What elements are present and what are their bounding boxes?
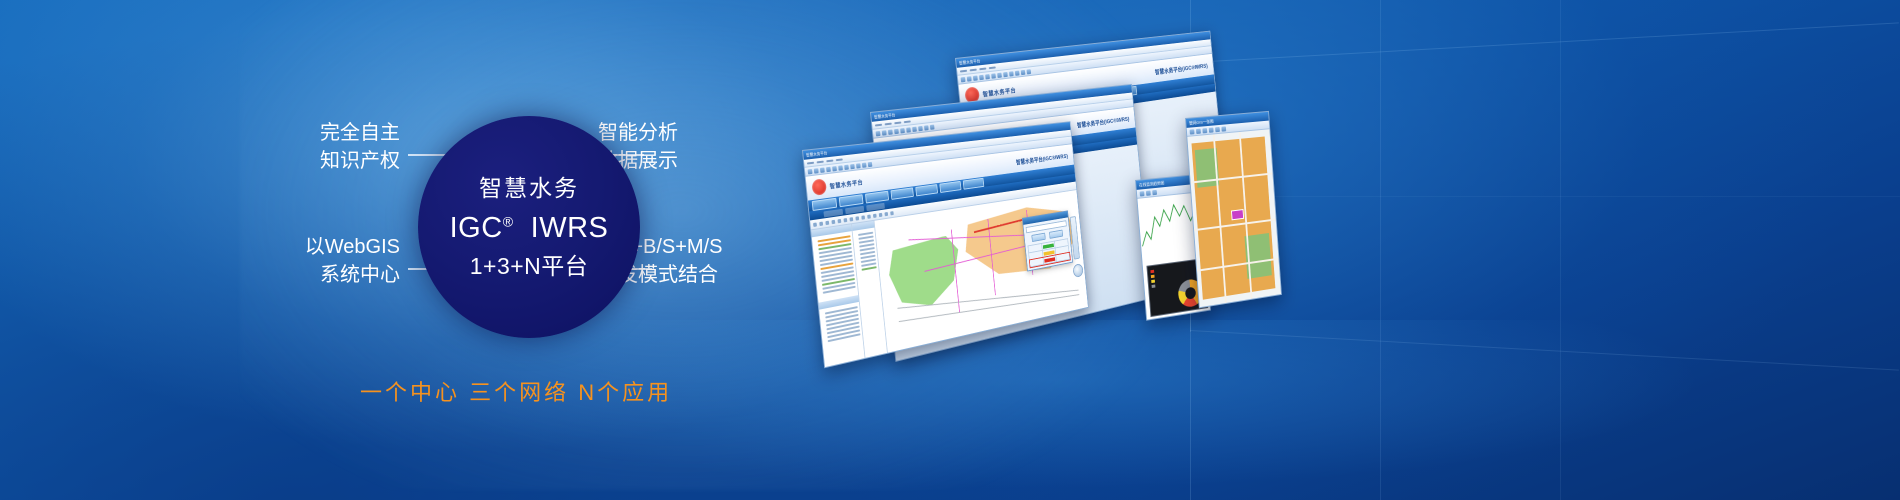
registered-icon: ® [503, 213, 514, 229]
center-badge-igc: IGC [450, 212, 503, 244]
feature-bottom-left-line2: 系统中心 [242, 262, 400, 290]
screenshot-stack: 智慧水务平台 智慧水务平台 智慧水务平台(IGC®IWRS) 智慧水务平台 智慧… [780, 40, 1380, 370]
layer-tree[interactable] [812, 231, 858, 299]
center-badge-line1: 智慧水务 [479, 177, 579, 200]
query-button[interactable] [1031, 233, 1045, 242]
app-logo-text: 智慧水务平台 [829, 177, 863, 190]
center-badge-iwrs: IWRS [531, 212, 609, 244]
center-badge-line2: IGC® IWRS [450, 214, 609, 243]
map-pan-control[interactable] [1073, 263, 1084, 278]
gauge-legend [1150, 270, 1155, 290]
center-badge-line3: 1+3+N平台 [470, 255, 589, 278]
feature-top-right-line1: 智能分析 [598, 122, 678, 144]
feature-top-left-line1: 完全自主 [320, 122, 400, 144]
tagline: 一个中心 三个网络 N个应用 [360, 375, 672, 407]
center-badge: 智慧水务 IGC® IWRS 1+3+N平台 [418, 116, 640, 338]
pump-analysis-dialog[interactable] [1022, 210, 1073, 271]
app-header-title: 智慧水务平台(IGC®IWRS) [1154, 60, 1208, 76]
clear-button[interactable] [1049, 230, 1063, 239]
hero-banner: 完全自主 知识产权 以WebGIS 系统中心 智能分析 数据展示 C/S+B/S… [0, 0, 1900, 500]
feature-cluster: 完全自主 知识产权 以WebGIS 系统中心 智能分析 数据展示 C/S+B/S… [250, 100, 790, 400]
tool-list[interactable] [853, 228, 879, 276]
app-window-front[interactable]: 智慧水务平台 智慧水务平台 智慧水务平台(IGC®IWRS) [802, 121, 1089, 368]
feature-top-left-line2: 知识产权 [250, 148, 400, 176]
map-marker[interactable] [1231, 209, 1244, 220]
feature-bottom-left-line1: 以WebGIS [305, 236, 400, 258]
status-indicator-red [1044, 257, 1056, 263]
app-window-satmap[interactable]: 管网GIS一张图 [1185, 111, 1282, 308]
app-header-title: 智慧水务平台(IGC®IWRS) [1076, 114, 1129, 129]
feature-bottom-left: 以WebGIS 系统中心 [242, 234, 400, 289]
feature-top-left: 完全自主 知识产权 [250, 120, 400, 175]
satellite-map-canvas[interactable] [1187, 129, 1281, 307]
dialog-result-table [1028, 238, 1071, 267]
app-header-title: 智慧水务平台(IGC®IWRS) [1015, 151, 1068, 166]
properties-list [819, 302, 862, 347]
water-drop-logo-icon [811, 178, 827, 196]
